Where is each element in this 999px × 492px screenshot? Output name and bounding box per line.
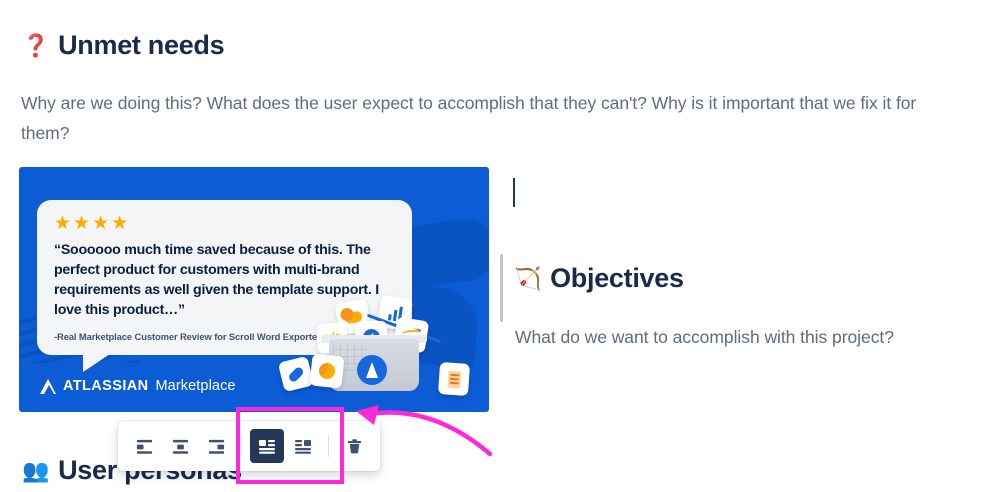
text-cursor <box>513 178 515 207</box>
app-tile-document-icon <box>438 362 470 396</box>
align-center-icon <box>171 437 190 456</box>
wrap-right-icon <box>293 436 313 456</box>
atlassian-logo-badge-icon <box>357 355 387 385</box>
app-tile-pill-icon <box>278 356 314 392</box>
unmet-needs-heading: ❓ Unmet needs <box>22 30 224 61</box>
align-left-icon <box>135 437 154 456</box>
blockquote-left-bar <box>500 254 503 322</box>
wrap-left-icon <box>257 436 277 456</box>
objectives-heading: 🏹 Objectives <box>514 263 684 294</box>
marketplace-review-image[interactable]: ★★★★ “Soooooo much time saved because of… <box>19 167 489 412</box>
brand-name: ATLASSIAN <box>63 378 149 394</box>
atlassian-marketplace-logo: ATLASSIAN Marketplace <box>40 378 236 394</box>
wrap-right-button[interactable] <box>286 429 320 463</box>
shopping-basket-illustration: </> ✓ <box>281 297 481 405</box>
align-right-icon <box>207 437 226 456</box>
atlassian-logo-icon <box>40 379 56 394</box>
trash-icon <box>345 437 364 456</box>
red-question-mark-icon: ❓ <box>22 35 49 57</box>
app-tile-pie-chart-icon <box>309 353 344 388</box>
toolbar-divider <box>328 435 329 457</box>
objectives-title: Objectives <box>550 263 684 294</box>
busts-in-silhouette-icon: 👥 <box>22 460 49 482</box>
align-center-button[interactable] <box>163 429 197 463</box>
bow-and-arrow-icon: 🏹 <box>514 268 541 290</box>
align-left-button[interactable] <box>127 429 161 463</box>
objectives-body-text: What do we want to accomplish with this … <box>515 322 985 352</box>
wrap-left-button[interactable] <box>250 429 284 463</box>
unmet-needs-body-text: Why are we doing this? What does the use… <box>21 88 961 148</box>
unmet-needs-title: Unmet needs <box>58 30 224 61</box>
star-rating-icon: ★★★★ <box>54 214 395 233</box>
remove-button[interactable] <box>337 429 371 463</box>
toolbar-divider <box>241 435 242 457</box>
align-right-button[interactable] <box>199 429 233 463</box>
brand-product: Marketplace <box>156 378 236 394</box>
image-format-toolbar[interactable] <box>118 421 380 471</box>
